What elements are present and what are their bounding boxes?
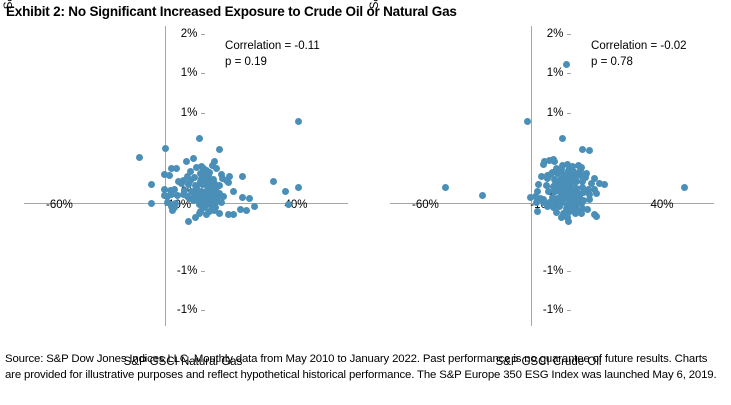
y-tick-label: 2% bbox=[163, 28, 197, 40]
y-tick-label: -1% bbox=[163, 304, 197, 316]
y-tick-mark bbox=[201, 73, 205, 74]
scatter-point bbox=[282, 188, 289, 195]
scatter-point bbox=[166, 172, 173, 179]
scatter-point bbox=[192, 195, 199, 202]
scatter-point bbox=[185, 218, 192, 225]
source-note: Source: S&P Dow Jones Indices LLC. Month… bbox=[5, 351, 725, 383]
scatter-point bbox=[216, 146, 223, 153]
correlation-annotation: p = 0.78 bbox=[591, 55, 633, 69]
scatter-point bbox=[216, 210, 223, 217]
page-title: Exhibit 2: No Significant Increased Expo… bbox=[6, 4, 457, 19]
x-tick-label: 40% bbox=[273, 199, 319, 211]
scatter-point bbox=[534, 208, 541, 215]
chart-panel-crude-oil: S&P Europe 350 ESG Index Excess Return 2… bbox=[366, 26, 731, 326]
y-axis-title-right: S&P Europe 350 ESG Index Excess Return bbox=[365, 0, 381, 38]
scatter-point bbox=[563, 61, 570, 68]
scatter-point bbox=[216, 182, 223, 189]
x-tick-label: -60% bbox=[402, 199, 448, 211]
scatter-point bbox=[246, 195, 253, 202]
scatter-point bbox=[230, 188, 237, 195]
scatter-point bbox=[578, 210, 585, 217]
plot-area-natural-gas: 2%1%1%0%-1%-1%-60%-10%40%Correlation = -… bbox=[24, 26, 348, 326]
scatter-point bbox=[540, 161, 547, 168]
chart-panel-natural-gas: S&P Europe 350 ESG Index Excess Return 2… bbox=[0, 26, 366, 326]
scatter-point bbox=[203, 211, 210, 218]
scatter-point bbox=[148, 181, 155, 188]
scatter-point bbox=[584, 206, 591, 213]
plot-area-crude-oil: 2%1%1%0%-1%-1%-60%-10%40%Correlation = -… bbox=[390, 26, 714, 326]
y-tick-mark bbox=[567, 271, 571, 272]
scatter-point bbox=[593, 190, 600, 197]
scatter-point bbox=[295, 184, 302, 191]
scatter-point bbox=[218, 199, 225, 206]
y-tick-label: 1% bbox=[163, 67, 197, 79]
scatter-point bbox=[524, 118, 531, 125]
scatter-point bbox=[533, 199, 540, 206]
scatter-point bbox=[270, 178, 277, 185]
y-tick-mark bbox=[567, 113, 571, 114]
y-tick-mark bbox=[201, 271, 205, 272]
correlation-annotation: Correlation = -0.02 bbox=[591, 39, 687, 53]
correlation-annotation: Correlation = -0.11 bbox=[225, 39, 320, 53]
exhibit-root: Exhibit 2: No Significant Increased Expo… bbox=[0, 0, 731, 405]
scatter-point bbox=[180, 191, 187, 198]
scatter-point bbox=[136, 154, 143, 161]
y-tick-label: -1% bbox=[529, 265, 563, 277]
y-tick-mark bbox=[567, 310, 571, 311]
scatter-point bbox=[681, 184, 688, 191]
scatter-point bbox=[571, 175, 578, 182]
scatter-point bbox=[295, 118, 302, 125]
scatter-point bbox=[226, 173, 233, 180]
scatter-point bbox=[569, 207, 576, 214]
y-tick-mark bbox=[201, 113, 205, 114]
scatter-point bbox=[579, 146, 586, 153]
scatter-point bbox=[479, 192, 486, 199]
y-tick-label: 1% bbox=[529, 107, 563, 119]
y-tick-mark bbox=[567, 34, 571, 35]
scatter-point bbox=[572, 198, 579, 205]
scatter-point bbox=[230, 211, 237, 218]
scatter-point bbox=[251, 203, 258, 210]
x-tick-label: 40% bbox=[639, 199, 685, 211]
scatter-point bbox=[219, 175, 226, 182]
y-axis-title-left: S&P Europe 350 ESG Index Excess Return bbox=[0, 0, 15, 38]
scatter-point bbox=[601, 181, 608, 188]
scatter-point bbox=[564, 174, 571, 181]
scatter-point bbox=[192, 214, 199, 221]
scatter-point bbox=[190, 155, 197, 162]
scatter-point bbox=[205, 172, 212, 179]
scatter-point bbox=[196, 135, 203, 142]
y-tick-label: 1% bbox=[163, 107, 197, 119]
y-tick-mark bbox=[201, 310, 205, 311]
x-tick-label: -60% bbox=[36, 199, 82, 211]
scatter-point bbox=[442, 184, 449, 191]
y-tick-mark bbox=[567, 73, 571, 74]
scatter-point bbox=[183, 158, 190, 165]
scatter-point bbox=[239, 194, 246, 201]
scatter-point bbox=[559, 135, 566, 142]
scatter-point bbox=[551, 197, 558, 204]
scatter-point bbox=[583, 170, 590, 177]
y-tick-label: 2% bbox=[529, 28, 563, 40]
scatter-point bbox=[225, 179, 232, 186]
scatter-point bbox=[544, 172, 551, 179]
scatter-point bbox=[243, 207, 250, 214]
scatter-point bbox=[565, 218, 572, 225]
scatter-point bbox=[593, 213, 600, 220]
scatter-point bbox=[216, 190, 223, 197]
scatter-point bbox=[576, 169, 583, 176]
y-tick-label: -1% bbox=[163, 265, 197, 277]
scatter-point bbox=[551, 158, 558, 165]
y-tick-mark bbox=[201, 34, 205, 35]
y-tick-label: -1% bbox=[529, 304, 563, 316]
y-tick-label: 1% bbox=[529, 67, 563, 79]
correlation-annotation: p = 0.19 bbox=[225, 55, 267, 69]
scatter-point bbox=[586, 147, 593, 154]
scatter-point bbox=[239, 173, 246, 180]
scatter-point bbox=[169, 207, 176, 214]
scatter-point bbox=[162, 145, 169, 152]
